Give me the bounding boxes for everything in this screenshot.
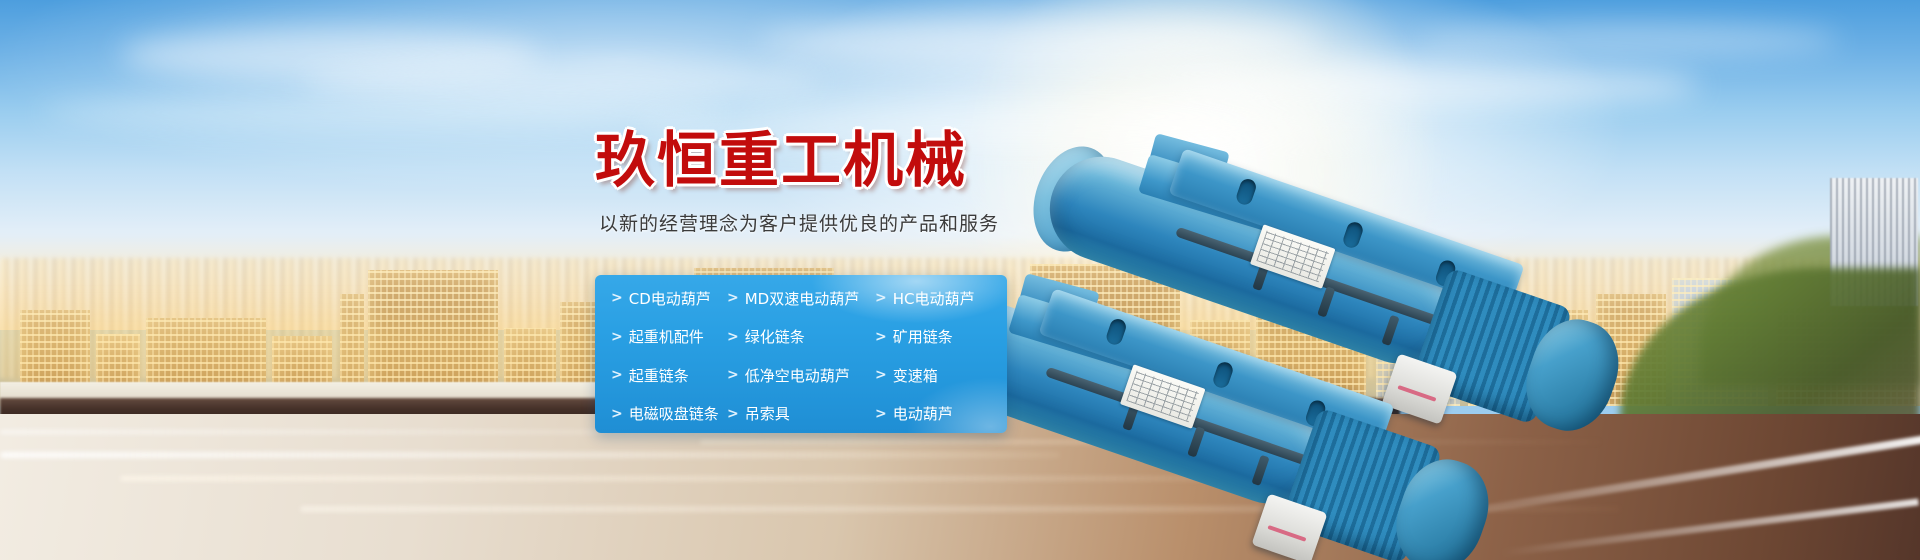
- product-category-link[interactable]: >低净空电动葫芦: [727, 365, 875, 386]
- product-category-panel: >CD电动葫芦>MD双速电动葫芦>HC电动葫芦>起重机配件>绿化链条>矿用链条>…: [595, 275, 1007, 433]
- product-category-label: MD双速电动葫芦: [745, 288, 860, 309]
- chevron-right-icon: >: [875, 407, 887, 421]
- chevron-right-icon: >: [875, 330, 887, 344]
- chevron-right-icon: >: [611, 407, 623, 421]
- product-category-label: HC电动葫芦: [893, 288, 975, 309]
- hero-banner: 玖恒重工机械 以新的经营理念为客户提供优良的产品和服务 >CD电动葫芦>MD双速…: [0, 0, 1920, 560]
- chevron-right-icon: >: [727, 407, 739, 421]
- product-category-label: 起重机配件: [629, 326, 704, 347]
- product-category-link[interactable]: >电动葫芦: [875, 403, 1007, 424]
- cloud: [1420, 22, 1840, 58]
- product-category-label: 矿用链条: [893, 326, 953, 347]
- company-title: 玖恒重工机械: [595, 130, 1025, 193]
- product-category-link[interactable]: >HC电动葫芦: [875, 288, 1007, 309]
- product-category-link[interactable]: >CD电动葫芦: [611, 288, 727, 309]
- cloud: [1180, 64, 1700, 108]
- chevron-right-icon: >: [611, 368, 623, 382]
- product-category-label: 电磁吸盘链条: [629, 403, 719, 424]
- product-category-label: CD电动葫芦: [629, 288, 711, 309]
- chevron-right-icon: >: [611, 291, 623, 305]
- product-category-label: 电动葫芦: [893, 403, 953, 424]
- chevron-right-icon: >: [727, 291, 739, 305]
- company-slogan: 以新的经营理念为客户提供优良的产品和服务: [599, 209, 1025, 236]
- product-category-label: 低净空电动葫芦: [745, 365, 850, 386]
- chevron-right-icon: >: [875, 291, 887, 305]
- chevron-right-icon: >: [727, 330, 739, 344]
- product-category-label: 起重链条: [629, 365, 689, 386]
- product-category-link[interactable]: >MD双速电动葫芦: [727, 288, 875, 309]
- chevron-right-icon: >: [875, 368, 887, 382]
- chevron-right-icon: >: [611, 330, 623, 344]
- product-category-label: 吊索具: [745, 403, 790, 424]
- product-category-label: 变速箱: [893, 365, 938, 386]
- product-category-link[interactable]: >起重链条: [611, 365, 727, 386]
- product-category-grid: >CD电动葫芦>MD双速电动葫芦>HC电动葫芦>起重机配件>绿化链条>矿用链条>…: [595, 275, 1007, 433]
- cloud: [40, 96, 720, 130]
- product-category-link[interactable]: >矿用链条: [875, 326, 1007, 347]
- product-category-link[interactable]: >起重机配件: [611, 326, 727, 347]
- product-category-link[interactable]: >绿化链条: [727, 326, 875, 347]
- product-category-link[interactable]: >变速箱: [875, 365, 1007, 386]
- cloud: [760, 18, 1320, 64]
- chevron-right-icon: >: [727, 368, 739, 382]
- banner-text-block: 玖恒重工机械 以新的经营理念为客户提供优良的产品和服务: [595, 130, 1025, 236]
- product-category-label: 绿化链条: [745, 326, 805, 347]
- product-category-link[interactable]: >电磁吸盘链条: [611, 403, 727, 424]
- product-category-link[interactable]: >吊索具: [727, 403, 875, 424]
